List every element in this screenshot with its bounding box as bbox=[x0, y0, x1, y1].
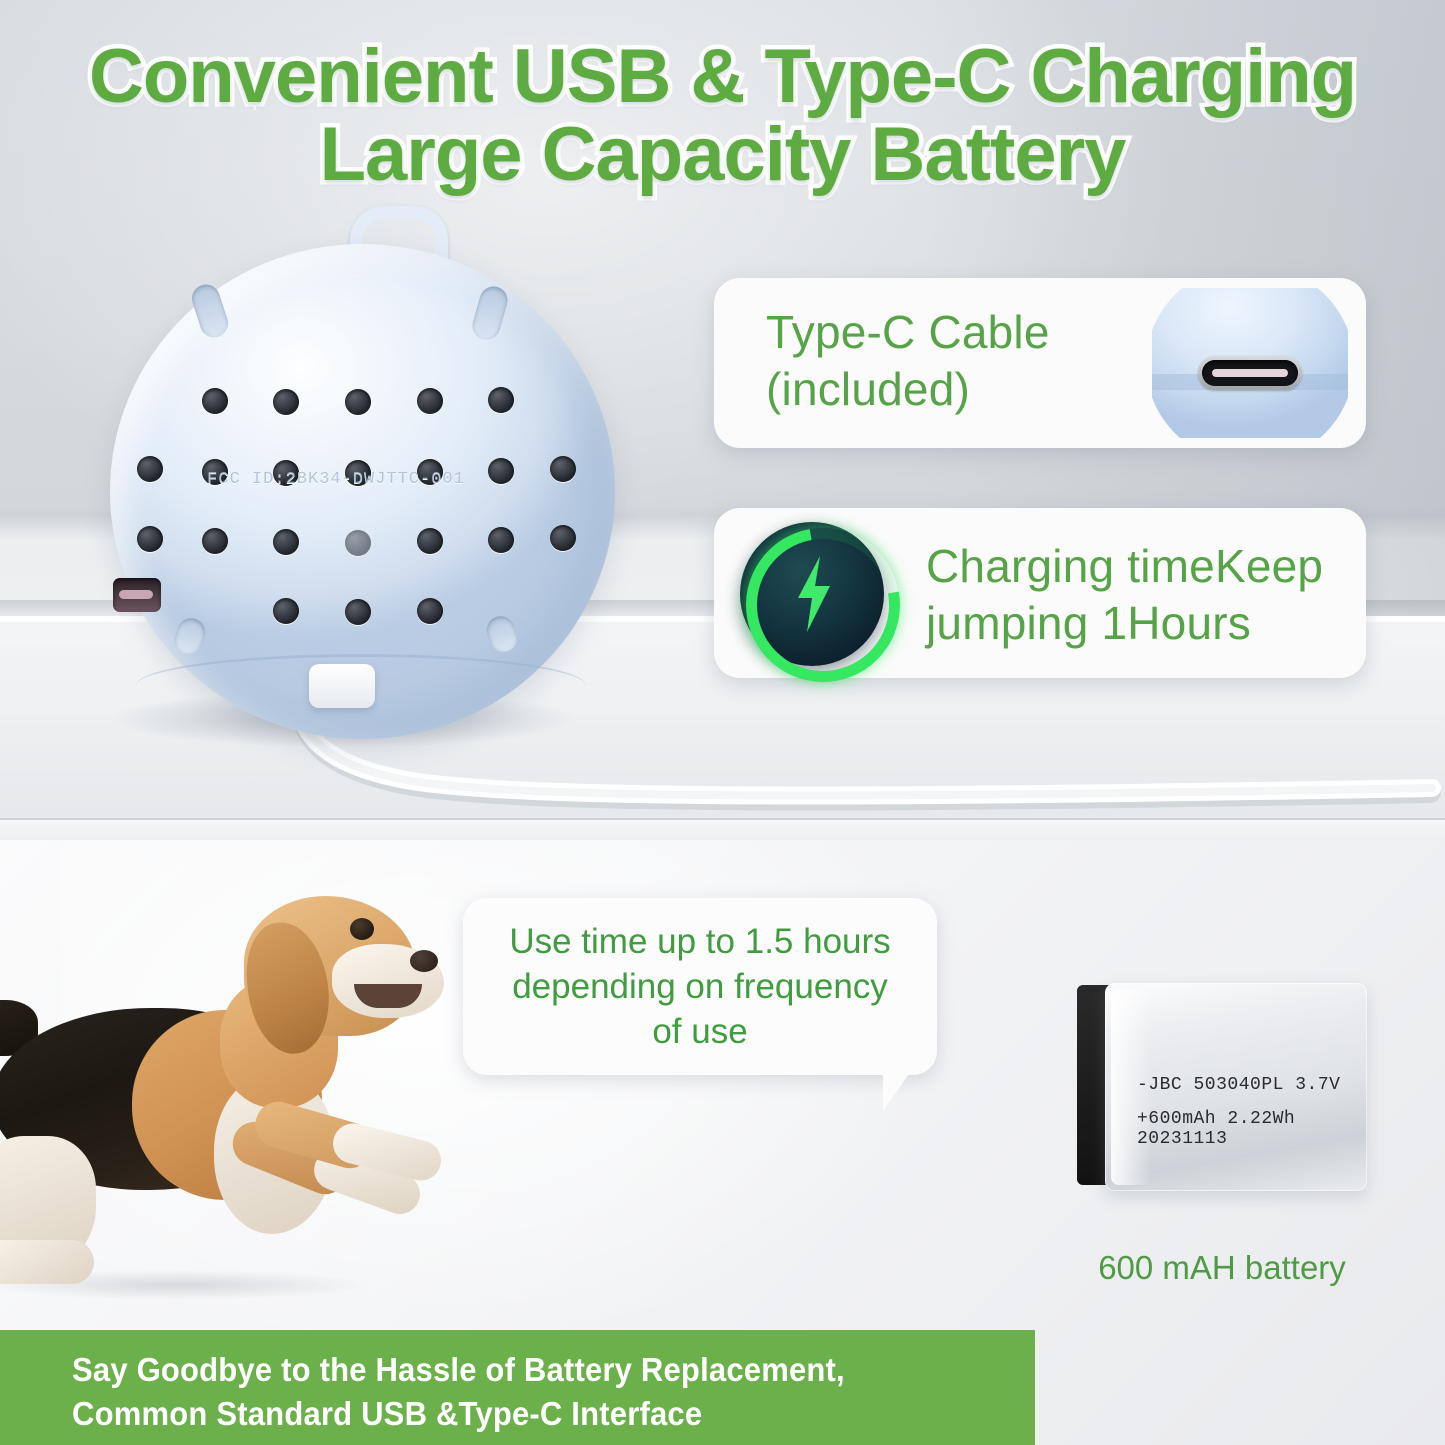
callout-card-type-c-cable: Type-C Cable (included) bbox=[714, 278, 1366, 448]
lightning-bolt-glyph bbox=[790, 554, 838, 634]
charging-bolt-icon bbox=[740, 522, 884, 666]
dog-hind-paw bbox=[0, 1240, 94, 1284]
speaker-hole bbox=[273, 389, 299, 415]
battery-photo: -JBC 503040PL 3.7V +600mAh 2.22Wh 202311… bbox=[1077, 983, 1367, 1191]
dog-eye bbox=[350, 918, 374, 940]
bubble-line-1: Use time up to 1.5 hours bbox=[485, 920, 915, 965]
footer-line-1: Say Goodbye to the Hassle of Battery Rep… bbox=[72, 1348, 956, 1392]
dog-photo bbox=[0, 860, 452, 1320]
usb-c-port-photo bbox=[1152, 288, 1348, 438]
callout-text-charging: Charging timeKeep jumping 1Hours bbox=[926, 538, 1346, 652]
speaker-hole bbox=[417, 528, 443, 554]
footer-banner: Say Goodbye to the Hassle of Battery Rep… bbox=[0, 1330, 1035, 1445]
speaker-hole bbox=[417, 598, 443, 624]
speaker-hole bbox=[550, 525, 576, 551]
panel-divider bbox=[0, 818, 1445, 840]
speaker-hole bbox=[202, 388, 228, 414]
speaker-hole bbox=[273, 529, 299, 555]
bubble-tail bbox=[883, 1071, 911, 1111]
title-line-1: Convenient USB & Type-C Charging bbox=[0, 38, 1445, 116]
title-line-2: Large Capacity Battery bbox=[0, 116, 1445, 194]
speaker-hole bbox=[345, 530, 371, 556]
speaker-hole bbox=[550, 456, 576, 482]
speaker-hole bbox=[488, 387, 514, 413]
speaker-hole bbox=[202, 528, 228, 554]
usb-c-port-icon bbox=[1198, 356, 1302, 390]
speaker-hole bbox=[417, 388, 443, 414]
cable-plug bbox=[309, 664, 375, 708]
speaker-hole bbox=[137, 456, 163, 482]
battery-caption: 600 mAH battery bbox=[1077, 1249, 1367, 1287]
device-ball-photo: FCC ID:2BK34-DWJTTC-001 bbox=[80, 206, 650, 746]
product-infographic: FCC ID:2BK34-DWJTTC-001 Type-C Cable (in… bbox=[0, 0, 1445, 1445]
speaker-hole bbox=[345, 389, 371, 415]
fcc-id-label: FCC ID:2BK34-DWJTTC-001 bbox=[166, 470, 506, 489]
battery-label-line-1: -JBC 503040PL 3.7V bbox=[1137, 1075, 1340, 1095]
footer-text: Say Goodbye to the Hassle of Battery Rep… bbox=[72, 1348, 956, 1436]
side-port bbox=[113, 578, 161, 612]
speaker-hole bbox=[345, 599, 371, 625]
bubble-text: Use time up to 1.5 hours depending on fr… bbox=[485, 920, 915, 1054]
callout-line-2: jumping 1Hours bbox=[926, 595, 1346, 652]
speaker-hole bbox=[488, 527, 514, 553]
speech-bubble-use-time: Use time up to 1.5 hours depending on fr… bbox=[463, 898, 937, 1075]
speaker-hole bbox=[273, 598, 299, 624]
dog-nose bbox=[410, 950, 438, 972]
footer-line-2: Common Standard USB &Type-C Interface bbox=[72, 1392, 956, 1436]
bubble-line-2: depending on frequency bbox=[485, 965, 915, 1010]
callout-line-1: Charging timeKeep bbox=[926, 538, 1346, 595]
callout-card-charging-time: Charging timeKeep jumping 1Hours bbox=[714, 508, 1366, 678]
speaker-hole bbox=[137, 526, 163, 552]
bubble-line-3: of use bbox=[485, 1010, 915, 1055]
page-title: Convenient USB & Type-C Charging Large C… bbox=[0, 38, 1445, 193]
battery-label-line-2: +600mAh 2.22Wh 20231113 bbox=[1137, 1109, 1367, 1149]
